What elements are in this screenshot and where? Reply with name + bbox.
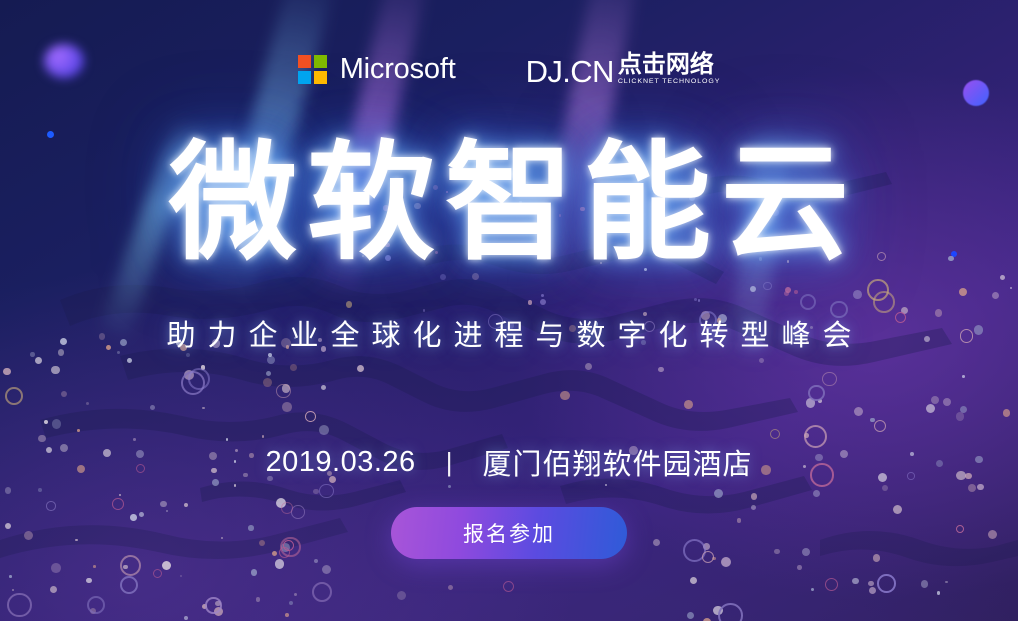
microsoft-square-red [298, 55, 311, 68]
hero-subtitle: 助力企业全球化进程与数字化转型峰会 [154, 312, 863, 354]
microsoft-square-blue [298, 71, 311, 84]
event-meta-container: 2019.03.26 | 厦门佰翔软件园酒店 [0, 441, 1018, 483]
glow-dot [47, 131, 54, 138]
microsoft-square-yellow [314, 71, 327, 84]
hero-title-container: 微软智能云 [0, 140, 1018, 268]
event-venue: 厦门佰翔软件园酒店 [482, 441, 752, 483]
partner-logo: DJ.CN 点击网络 CLICKNET TECHNOLOGY [526, 52, 721, 87]
microsoft-squares-icon [298, 55, 327, 84]
event-meta: 2019.03.26 | 厦门佰翔软件园酒店 [266, 441, 753, 483]
microsoft-square-green [314, 55, 327, 68]
cta-container: 报名参加 [0, 507, 1018, 559]
hero-subtitle-container: 助力企业全球化进程与数字化转型峰会 [0, 312, 1018, 354]
partner-logo-chinese: 点击网络 [618, 52, 714, 77]
partner-logo-latin: DJ.CN [526, 56, 614, 87]
event-banner: Microsoft DJ.CN 点击网络 CLICKNET TECHNOLOGY… [0, 0, 1018, 621]
event-date: 2019.03.26 [266, 446, 416, 479]
microsoft-logo: Microsoft [298, 53, 456, 86]
meta-separator: | [446, 447, 453, 478]
logo-row: Microsoft DJ.CN 点击网络 CLICKNET TECHNOLOGY [0, 52, 1018, 87]
partner-logo-chinese-block: 点击网络 CLICKNET TECHNOLOGY [618, 52, 720, 87]
microsoft-wordmark: Microsoft [340, 53, 456, 86]
register-button[interactable]: 报名参加 [391, 507, 627, 559]
partner-logo-tagline: CLICKNET TECHNOLOGY [618, 77, 720, 86]
hero-title: 微软智能云 [159, 140, 859, 268]
